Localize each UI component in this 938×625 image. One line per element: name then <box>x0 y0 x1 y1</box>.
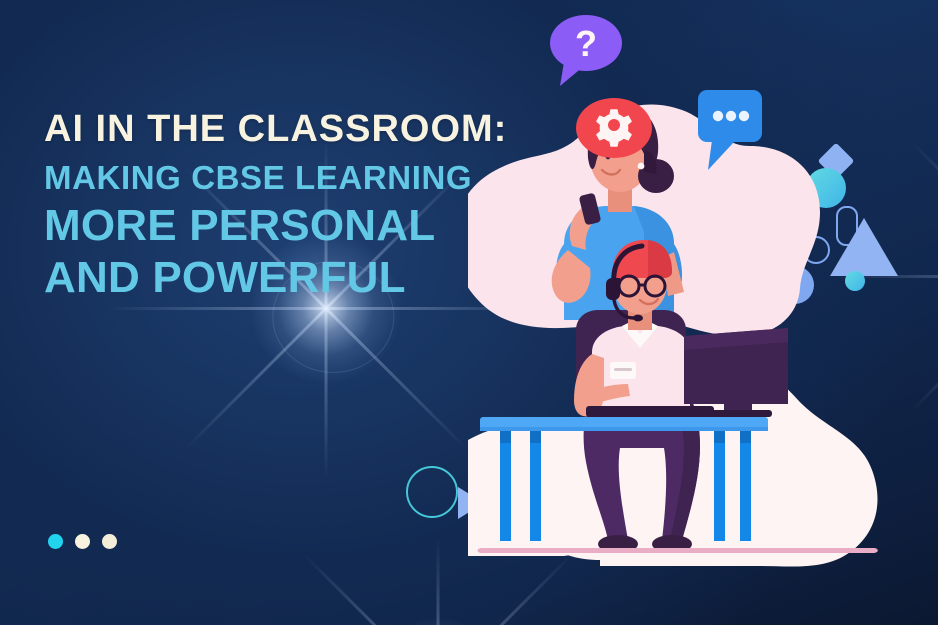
decorative-dot-group <box>48 534 117 549</box>
desk-leg-cap-3 <box>714 431 725 443</box>
dot-accent <box>48 534 63 549</box>
headline-block: AI IN THE CLASSROOM: MAKING CBSE LEARNIN… <box>44 110 507 300</box>
headline-line-4: AND POWERFUL <box>44 256 507 300</box>
headset-mic-tip <box>633 315 643 322</box>
floor-shadow-line <box>478 548 878 553</box>
headline-line-3: MORE PERSONAL <box>44 204 507 248</box>
question-mark-glyph: ? <box>575 23 597 64</box>
question-bubble-icon: ? <box>550 15 622 86</box>
banner-root: AI IN THE CLASSROOM: MAKING CBSE LEARNIN… <box>0 0 938 625</box>
illustration-svg: ? <box>468 0 938 625</box>
dot-cream-2 <box>102 534 117 549</box>
dot-cream-1 <box>75 534 90 549</box>
desktop-monitor <box>684 328 788 417</box>
desk-leg-3 <box>714 431 725 541</box>
ai-classroom-support-illustration: ? <box>468 0 938 625</box>
headline-line-2: MAKING CBSE LEARNING <box>44 161 507 194</box>
headline-line-1: AI IN THE CLASSROOM: <box>44 110 507 148</box>
chat-dot-3 <box>739 111 749 121</box>
woman-earring <box>638 163 645 170</box>
desk-leg-cap-2 <box>530 431 541 443</box>
circle-outline-large-left <box>406 466 458 518</box>
desk-leg-4 <box>740 431 751 541</box>
gear-center-hole <box>608 119 620 131</box>
desk-leg-2 <box>530 431 541 541</box>
chat-dot-1 <box>713 111 723 121</box>
desk-leg-1 <box>500 431 511 541</box>
chat-dot-2 <box>726 111 736 121</box>
question-bubble-tail <box>560 62 584 86</box>
monitor-stand-base <box>706 410 772 417</box>
desk-top-shade <box>480 427 768 431</box>
gear-icon <box>576 98 652 158</box>
id-badge-line <box>614 368 632 371</box>
desk-leg-cap-1 <box>500 431 511 443</box>
keyboard <box>586 406 714 417</box>
flare-ray <box>437 538 440 625</box>
desk-leg-cap-4 <box>740 431 751 443</box>
